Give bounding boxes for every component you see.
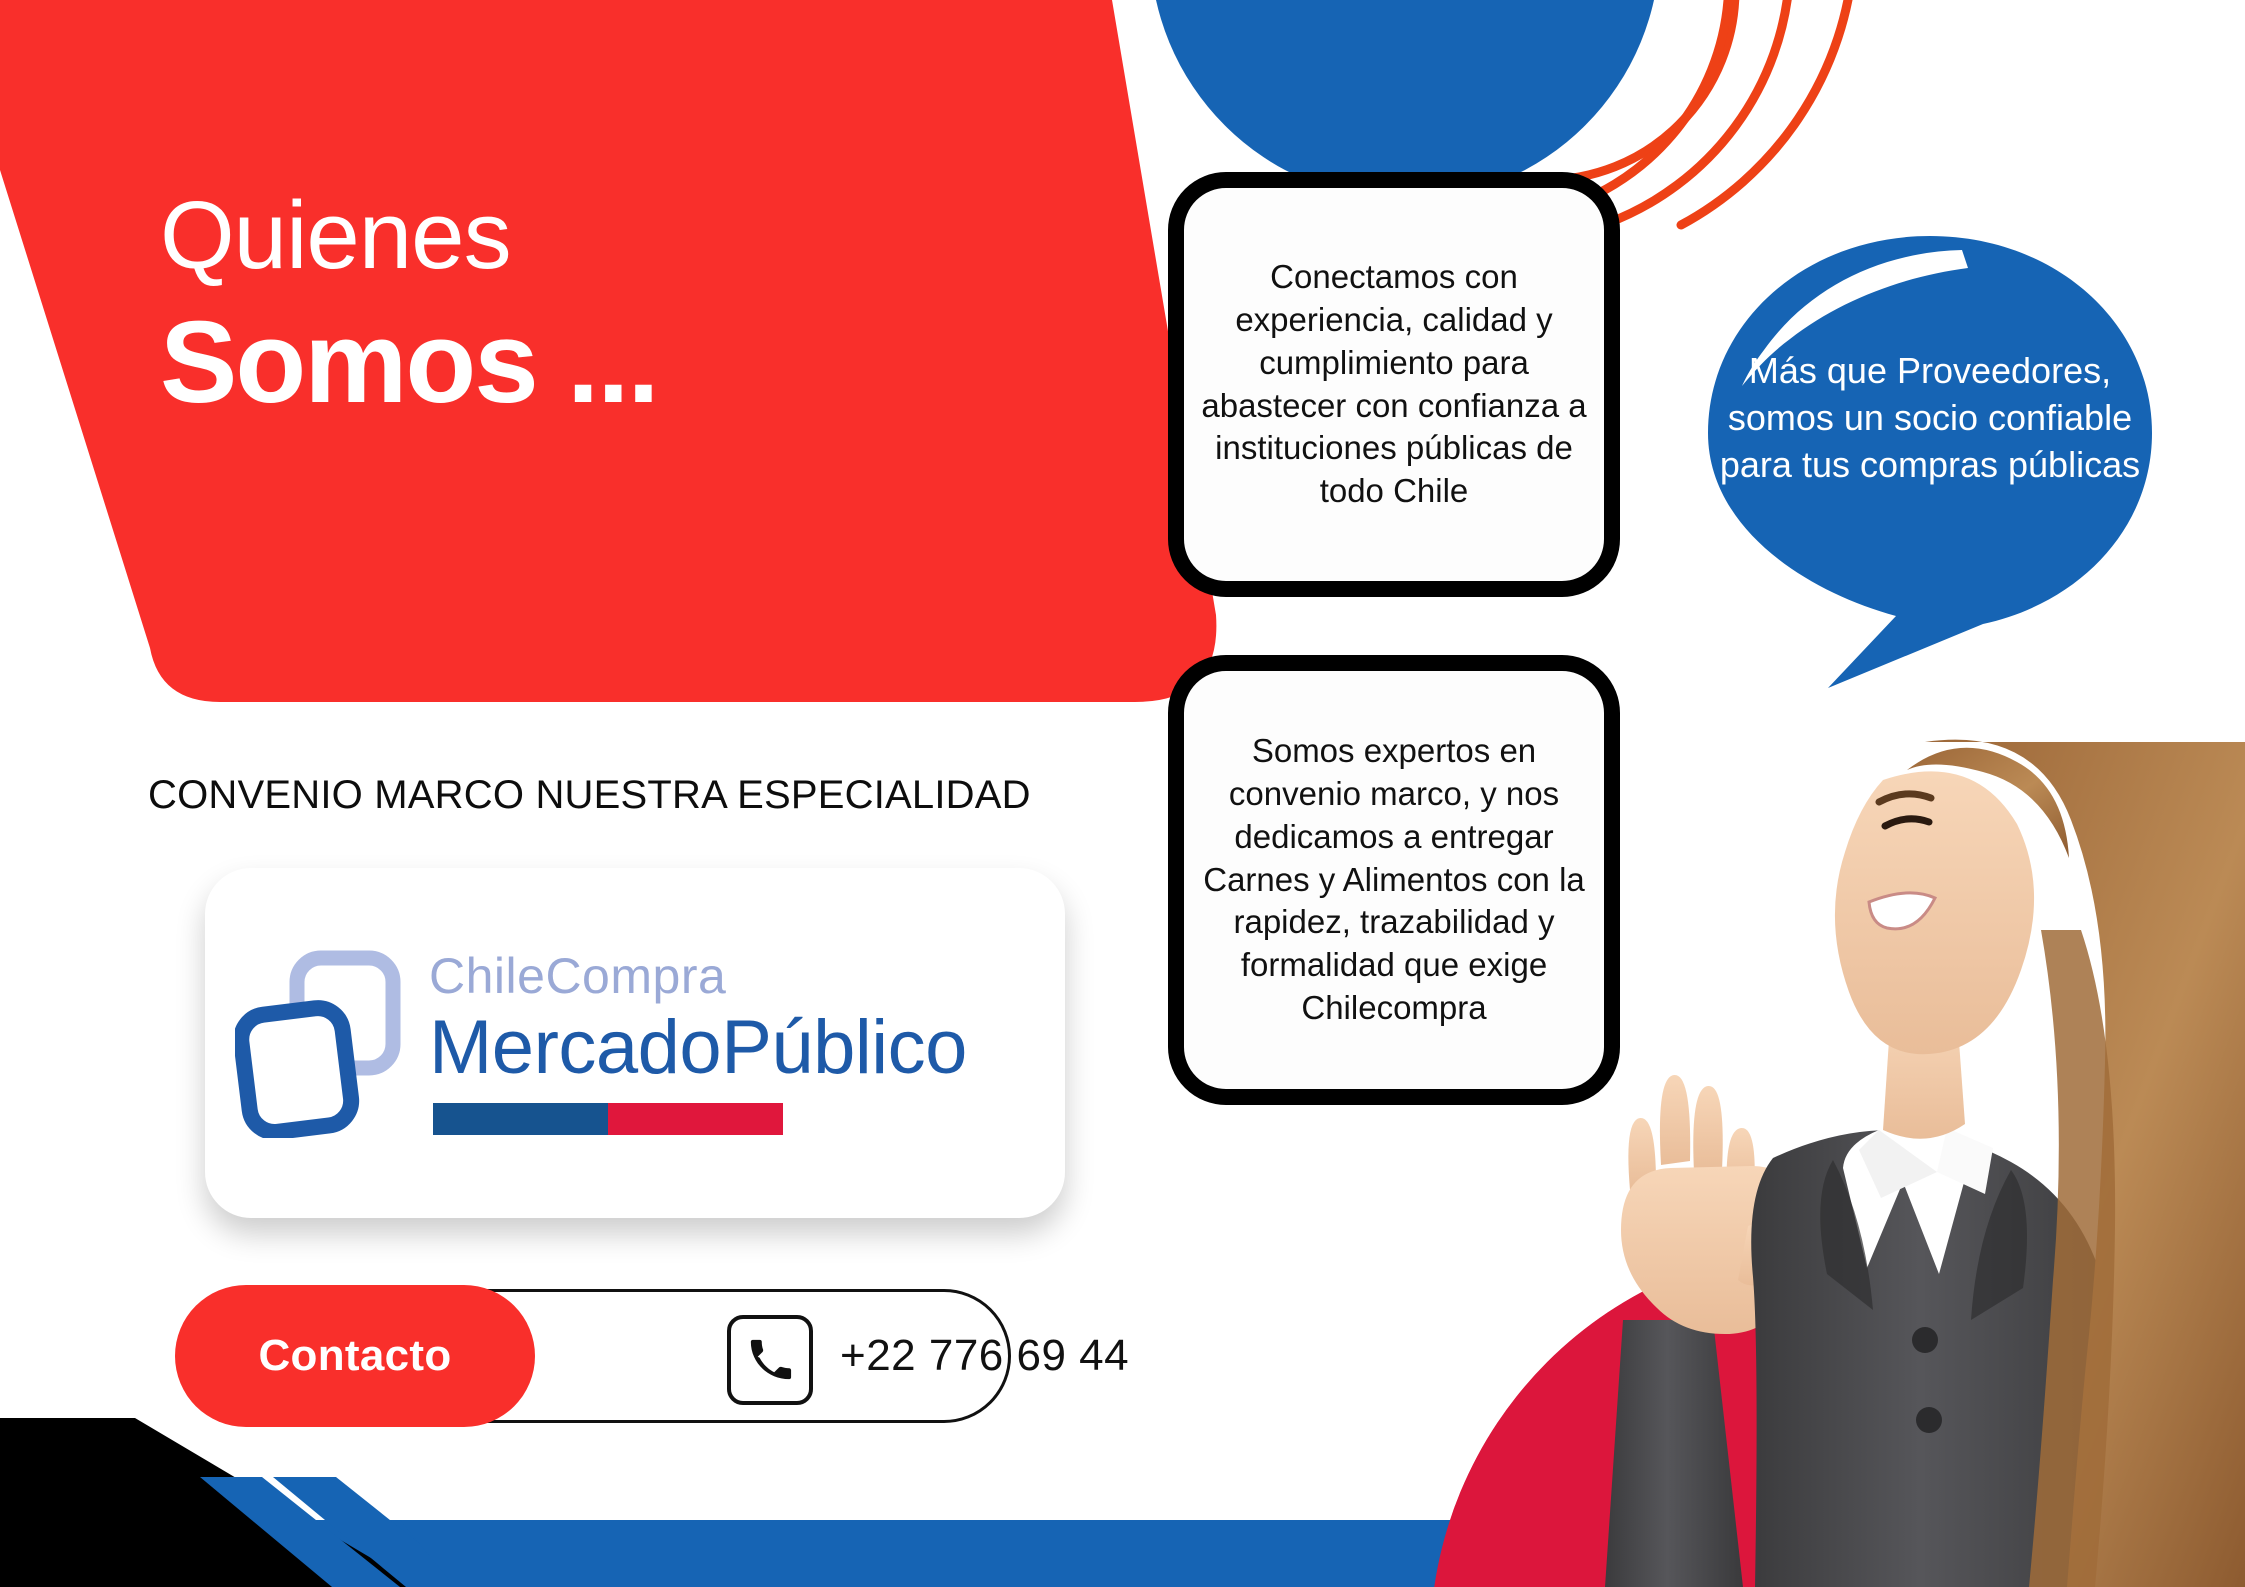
phone-icon: [747, 1337, 793, 1383]
logo-brand-top: ChileCompra: [429, 951, 967, 1001]
callout-box-conectamos: Conectamos con experiencia, calidad y cu…: [1168, 172, 1620, 597]
section-subtitle: CONVENIO MARCO NUESTRA ESPECIALIDAD: [148, 773, 1031, 818]
speech-bubble-shape: [1700, 228, 2160, 688]
logo-wordmark: ChileCompra MercadoPúblico: [429, 951, 967, 1134]
contact-bar: Contacto +22 776 69 44: [175, 1285, 1015, 1427]
chile-flag-bar: [433, 1103, 783, 1135]
contacto-button-label: Contacto: [258, 1331, 451, 1381]
callout-box-expertos: Somos expertos en convenio marco, y nos …: [1168, 655, 1620, 1105]
head: [1835, 771, 2034, 1054]
phone-icon-box: [727, 1315, 813, 1405]
callout-1-text: Conectamos con experiencia, calidad y cu…: [1184, 256, 1604, 513]
contacto-button[interactable]: Contacto: [175, 1285, 535, 1427]
orange-arc-4: [1681, 0, 1855, 225]
headline-line-2: Somos ...: [160, 301, 1060, 424]
speech-bubble: Más que Proveedores, somos un socio conf…: [1700, 228, 2160, 688]
flag-bar-blue: [433, 1103, 608, 1135]
logo-inner: ChileCompra MercadoPúblico: [235, 948, 967, 1138]
chilecompra-squares-icon: [235, 948, 403, 1138]
chilecompra-logo-card[interactable]: ChileCompra MercadoPúblico: [205, 868, 1065, 1218]
jacket-button-1: [1912, 1327, 1938, 1353]
phone-number[interactable]: +22 776 69 44: [840, 1331, 1129, 1381]
headline-line-1: Quienes: [160, 185, 1060, 287]
slide-canvas: Quienes Somos ... CONVENIO MARCO NUESTRA…: [0, 0, 2245, 1587]
raised-arm-sleeve: [1605, 1320, 1743, 1587]
callout-2-text: Somos expertos en convenio marco, y nos …: [1184, 730, 1604, 1030]
headline-block: Quienes Somos ...: [160, 185, 1060, 424]
flag-bar-red: [608, 1103, 783, 1135]
logo-brand-bottom: MercadoPúblico: [429, 1005, 967, 1090]
blue-circle-top-right: [1150, 0, 1660, 200]
jacket-button-2: [1916, 1407, 1942, 1433]
